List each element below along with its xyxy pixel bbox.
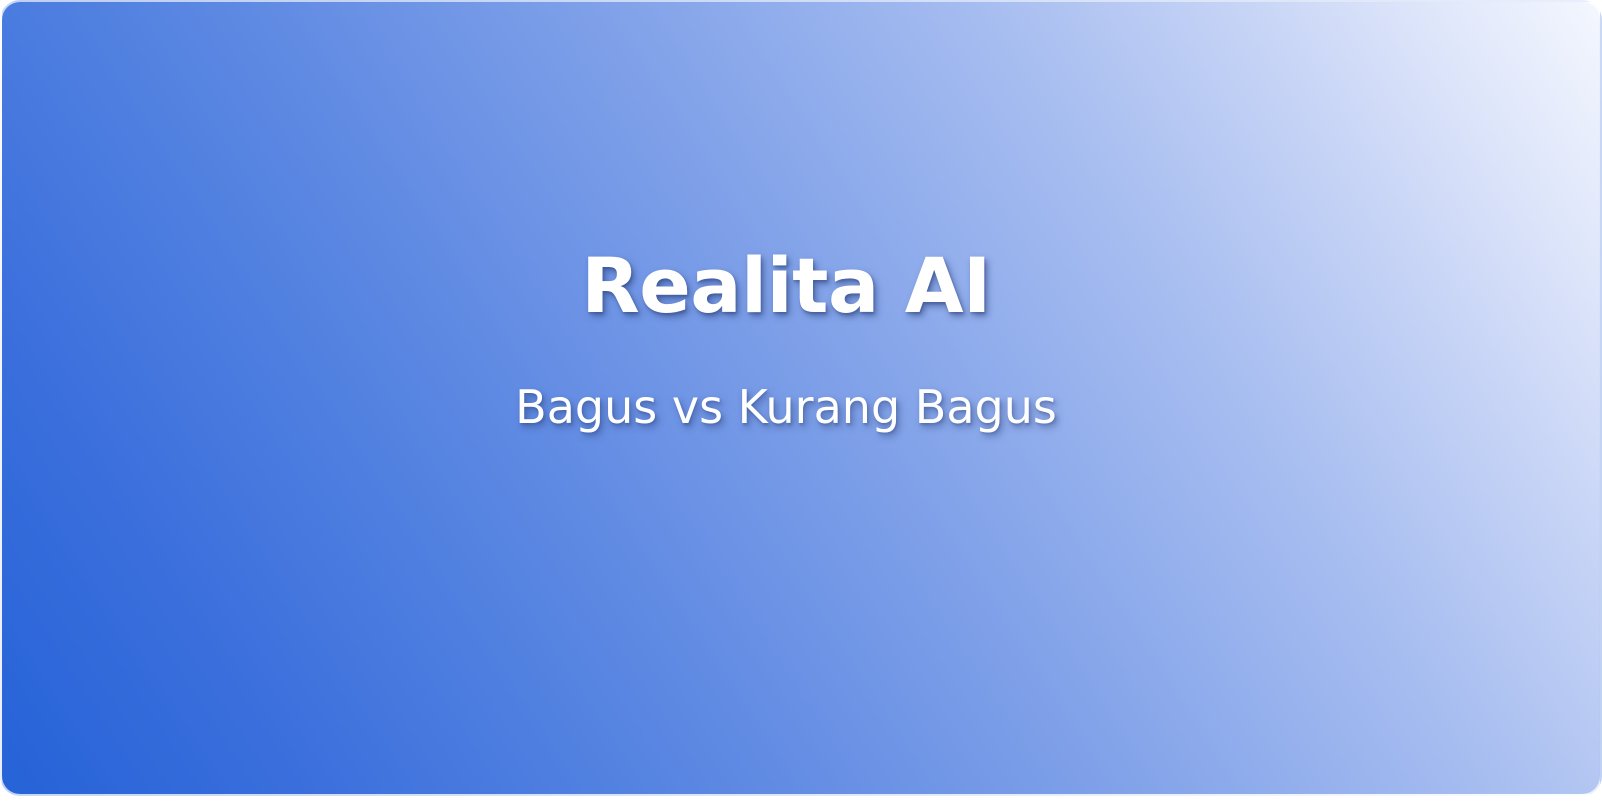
- title-slide-card: Realita AI Bagus vs Kurang Bagus: [0, 0, 1602, 796]
- slide-root: Realita AI Bagus vs Kurang Bagus: [0, 0, 1602, 802]
- slide-content-stack: Realita AI Bagus vs Kurang Bagus: [2, 2, 1570, 796]
- slide-title: Realita AI: [581, 246, 991, 326]
- slide-subtitle: Bagus vs Kurang Bagus: [515, 381, 1057, 434]
